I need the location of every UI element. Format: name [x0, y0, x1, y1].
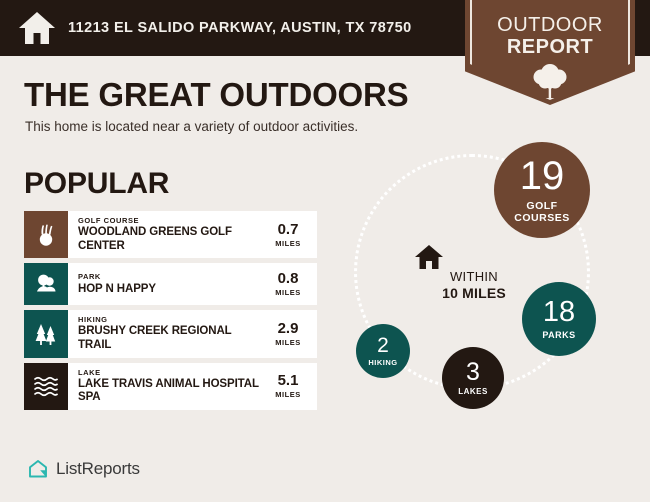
water-waves-icon	[24, 363, 68, 410]
list-item-distance: 0.8 MILES	[265, 263, 317, 305]
list-item-name: WOODLAND GREENS GOLF CENTER	[78, 226, 261, 253]
pine-trees-icon	[24, 310, 68, 357]
popular-list: GOLF COURSE WOODLAND GREENS GOLF CENTER …	[24, 211, 317, 415]
park-tree-icon	[24, 263, 68, 305]
list-item-distance: 5.1 MILES	[265, 363, 317, 410]
bubble-label: HIKING	[368, 359, 397, 367]
bubble-hiking[interactable]: 2 HIKING	[356, 324, 410, 378]
badge-line-1: OUTDOOR	[465, 14, 635, 36]
distance-unit: MILES	[275, 390, 300, 399]
infographic-root: 11213 EL SALIDO PARKWAY, AUSTIN, TX 7875…	[0, 0, 650, 502]
list-item-category: HIKING	[78, 315, 261, 325]
list-item-distance: 0.7 MILES	[265, 211, 317, 258]
bubble-label: GOLF COURSES	[514, 201, 569, 224]
distance-value: 0.8	[278, 271, 299, 286]
footer: ListReports DISCLAIMER: The information …	[0, 444, 650, 502]
bubble-label: PARKS	[542, 331, 575, 341]
bubble-label-line-2: COURSES	[514, 212, 569, 224]
list-item-name: LAKE TRAVIS ANIMAL HOSPITAL SPA	[78, 378, 261, 405]
property-address: 11213 EL SALIDO PARKWAY, AUSTIN, TX 7875…	[68, 20, 412, 36]
tree-icon	[530, 62, 570, 100]
bubble-label-line-1: GOLF	[526, 200, 557, 212]
popular-heading: POPULAR	[24, 167, 169, 201]
badge-line-2: REPORT	[465, 36, 635, 58]
distance-unit: MILES	[275, 338, 300, 347]
list-item-info: HIKING BRUSHY CREEK REGIONAL TRAIL	[68, 310, 265, 357]
bubble-lakes[interactable]: 3 LAKES	[442, 347, 504, 409]
diagram-center: WITHIN 10 MILES	[414, 244, 534, 301]
golf-icon	[24, 211, 68, 258]
bubble-count: 18	[543, 298, 575, 327]
listreports-wordmark: ListReports	[56, 459, 140, 479]
outdoor-report-badge: OUTDOOR REPORT	[465, 0, 635, 105]
center-line-1: WITHIN	[414, 270, 534, 285]
distance-unit: MILES	[275, 239, 300, 248]
list-item-info: PARK HOP N HAPPY	[68, 263, 265, 305]
page-title: THE GREAT OUTDOORS	[24, 76, 408, 114]
listreports-house-icon	[27, 458, 49, 480]
distance-unit: MILES	[275, 288, 300, 297]
page-subtitle: This home is located near a variety of o…	[25, 119, 358, 134]
bubble-golf-courses[interactable]: 19 GOLF COURSES	[494, 142, 590, 238]
listreports-logo[interactable]: ListReports	[27, 458, 140, 480]
list-item-info: GOLF COURSE WOODLAND GREENS GOLF CENTER	[68, 211, 265, 258]
list-item[interactable]: LAKE LAKE TRAVIS ANIMAL HOSPITAL SPA 5.1…	[24, 363, 317, 410]
bubble-count: 2	[377, 335, 389, 356]
list-item-category: LAKE	[78, 368, 261, 378]
list-item-name: HOP N HAPPY	[78, 283, 261, 297]
list-item-category: PARK	[78, 272, 261, 282]
bubble-count: 19	[520, 156, 565, 196]
within-10-miles-diagram: 19 GOLF COURSES 18 PARKS 3 LAKES 2 HIKIN…	[336, 142, 636, 432]
home-icon	[18, 11, 56, 45]
distance-value: 5.1	[278, 373, 299, 388]
badge-text: OUTDOOR REPORT	[465, 14, 635, 59]
list-item[interactable]: GOLF COURSE WOODLAND GREENS GOLF CENTER …	[24, 211, 317, 258]
bubble-label: LAKES	[458, 388, 488, 397]
center-line-2: 10 MILES	[414, 285, 534, 301]
bubble-count: 3	[466, 360, 480, 385]
list-item-name: BRUSHY CREEK REGIONAL TRAIL	[78, 325, 261, 352]
home-icon	[414, 244, 534, 270]
distance-value: 2.9	[278, 321, 299, 336]
list-item[interactable]: HIKING BRUSHY CREEK REGIONAL TRAIL 2.9 M…	[24, 310, 317, 357]
list-item[interactable]: PARK HOP N HAPPY 0.8 MILES	[24, 263, 317, 305]
list-item-info: LAKE LAKE TRAVIS ANIMAL HOSPITAL SPA	[68, 363, 265, 410]
distance-value: 0.7	[278, 222, 299, 237]
list-item-distance: 2.9 MILES	[265, 310, 317, 357]
list-item-category: GOLF COURSE	[78, 216, 261, 226]
